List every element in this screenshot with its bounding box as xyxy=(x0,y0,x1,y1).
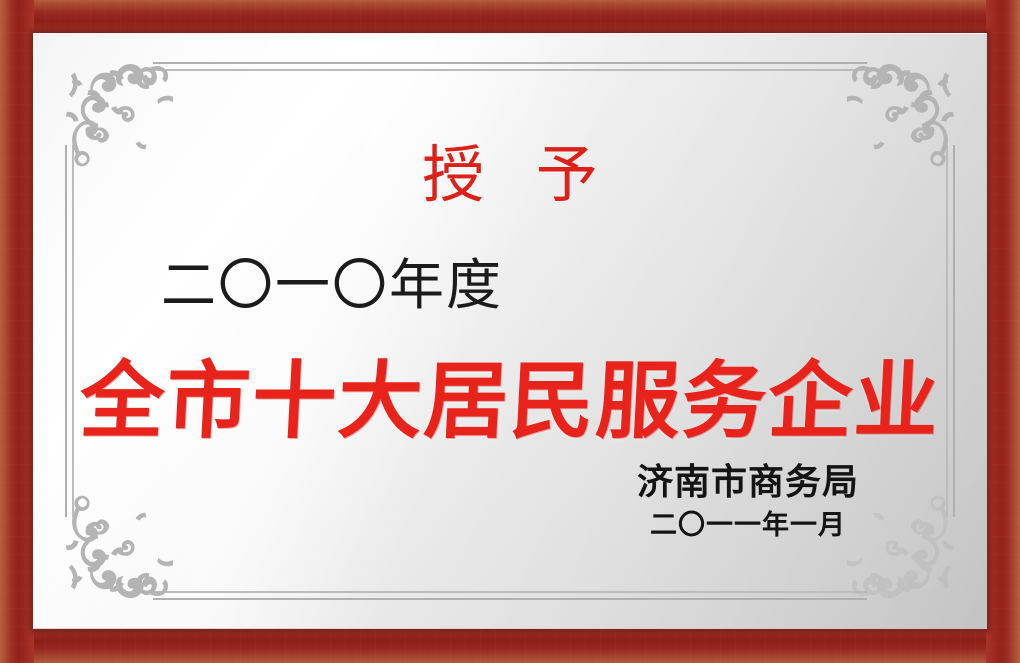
certificate-plate: 授 予 二〇一〇年度 全市十大居民服务企业 济南市商务局 二〇一一年一月 xyxy=(33,33,987,629)
issuer-block: 济南市商务局 二〇一一年一月 xyxy=(637,462,859,541)
frame-edge-top xyxy=(0,0,1020,34)
issue-date-text: 二〇一一年一月 xyxy=(637,511,859,541)
issuer-name-text: 济南市商务局 xyxy=(637,462,859,502)
award-year-text: 二〇一〇年度 xyxy=(161,258,503,313)
plaque-content: 授 予 二〇一〇年度 全市十大居民服务企业 济南市商务局 二〇一一年一月 xyxy=(33,33,987,629)
award-plaque: 授 予 二〇一〇年度 全市十大居民服务企业 济南市商务局 二〇一一年一月 xyxy=(0,0,1020,663)
award-title-text: 全市十大居民服务企业 xyxy=(33,358,987,449)
frame-edge-right xyxy=(986,0,1020,663)
frame-edge-left xyxy=(0,0,34,663)
frame-edge-bottom xyxy=(0,628,1020,663)
award-verb-text: 授 予 xyxy=(33,145,987,207)
